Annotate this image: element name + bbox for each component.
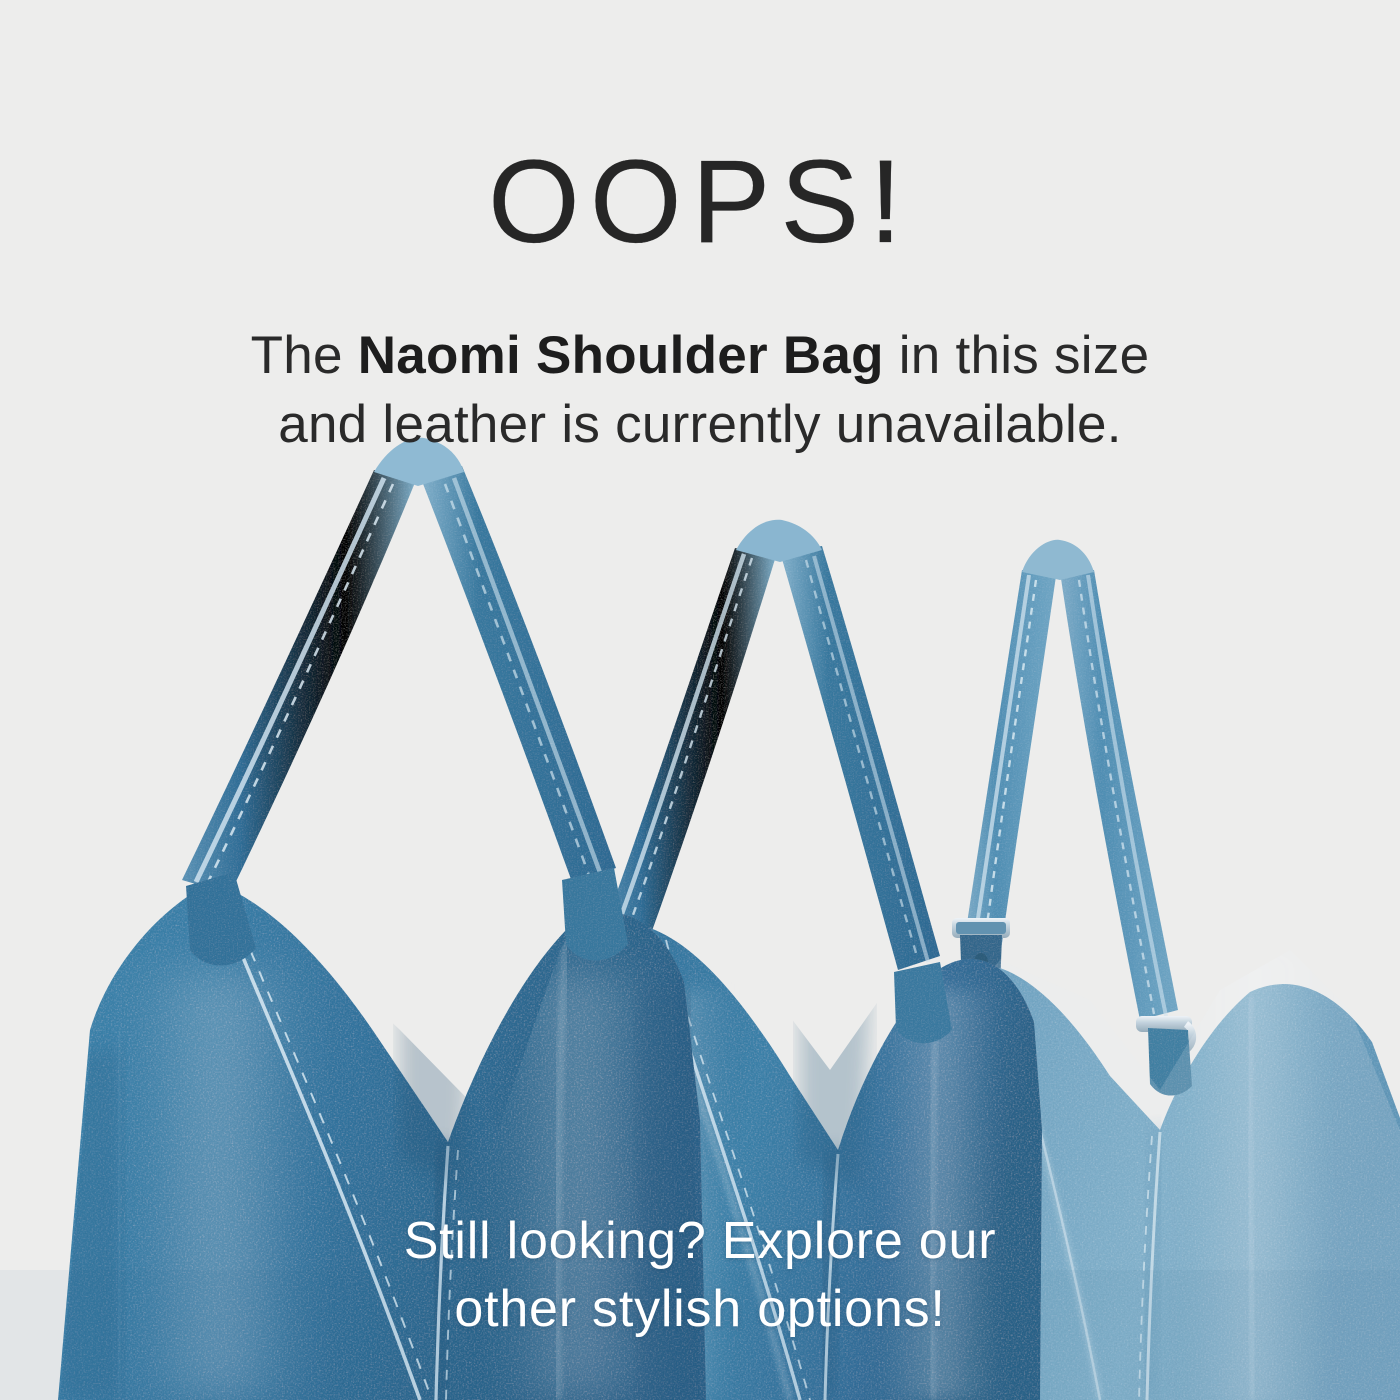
product-name: Naomi Shoulder Bag [358,326,884,385]
message-line-2: and leather is currently unavailable. [0,391,1400,460]
page-title: OOPS! [0,143,1400,261]
explore-options-cta[interactable]: Still looking? Explore our other stylish… [0,1208,1400,1343]
cta-line-2: other stylish options! [0,1276,1400,1344]
message-prefix: The [251,326,358,385]
error-page-canvas: OOPS! The Naomi Shoulder Bag in this siz… [0,0,1400,1400]
cta-line-1: Still looking? Explore our [0,1208,1400,1276]
unavailable-message: The Naomi Shoulder Bag in this size and … [0,322,1400,460]
message-line-1: The Naomi Shoulder Bag in this size [0,322,1400,391]
message-suffix: in this size [884,326,1150,385]
